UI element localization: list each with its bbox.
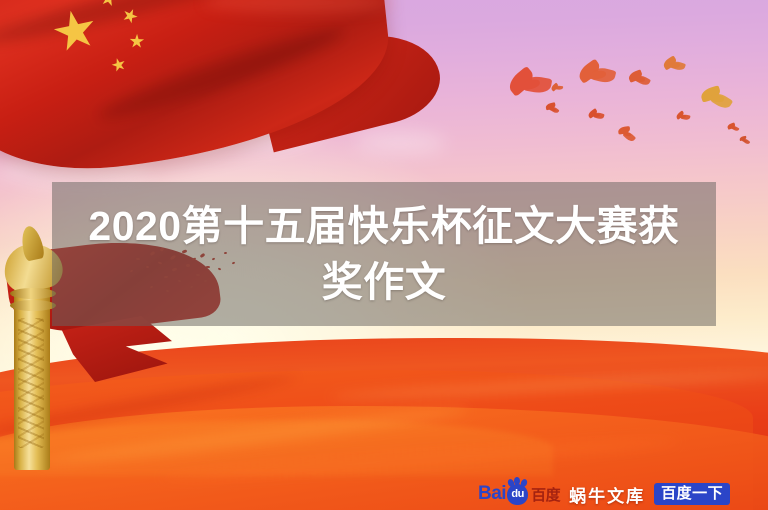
pillar-ring	[10, 300, 56, 311]
baidu-paw-label: du	[511, 489, 523, 500]
poster-image: 2020第十五届快乐杯征文大赛获 奖作文 Bai du 百度 蜗牛文库 百度一下	[0, 0, 768, 510]
baidu-chinese-label: 百度	[531, 484, 560, 505]
poster-title-line-2: 奖作文	[322, 254, 447, 310]
dove-icon	[587, 109, 605, 121]
baidu-logo: Bai du 百度	[478, 483, 560, 505]
title-overlay-band: 2020第十五届快乐杯征文大赛获 奖作文	[52, 182, 716, 326]
pillar-ring	[10, 288, 56, 299]
dove-icon	[727, 123, 741, 133]
flag-star-small	[110, 56, 127, 73]
baidu-paw-icon: du	[507, 484, 528, 505]
dove-icon	[663, 57, 688, 74]
dove-icon	[627, 71, 652, 88]
flag-star-small	[129, 34, 145, 50]
baidu-search-button[interactable]: 百度一下	[654, 483, 730, 505]
flag-body	[0, 0, 399, 182]
pillar-engraving	[18, 318, 44, 448]
watermark-bar: Bai du 百度 蜗牛文库 百度一下	[478, 480, 730, 508]
baidu-wordmark: Bai	[478, 483, 506, 505]
site-name-label: 蜗牛文库	[569, 482, 645, 507]
poster-title-line-1: 2020第十五届快乐杯征文大赛获	[88, 198, 679, 254]
